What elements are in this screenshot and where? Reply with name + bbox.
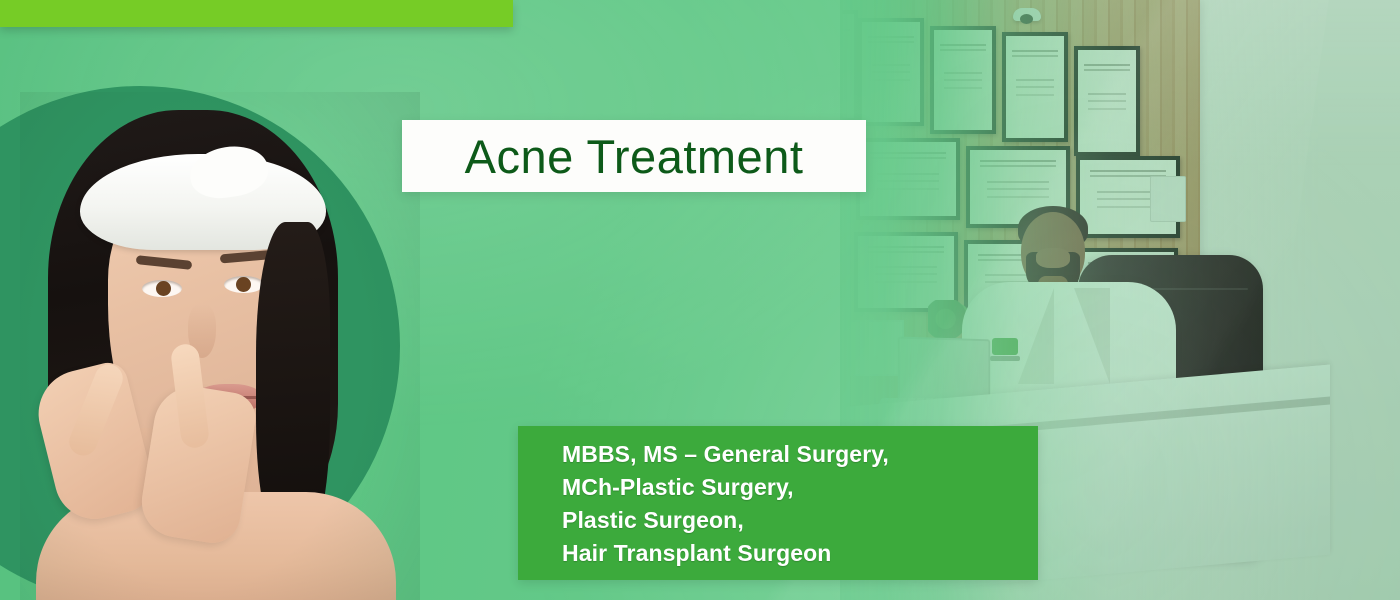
credential-line: MCh-Plastic Surgery, (562, 471, 1038, 504)
top-accent-bar (0, 0, 513, 27)
credential-line: MBBS, MS – General Surgery, (562, 438, 1038, 471)
certificate-frame (1074, 46, 1140, 156)
clinic-logo-text (990, 356, 1020, 361)
credential-line: Hair Transplant Surgeon (562, 537, 1038, 570)
page-title: Acne Treatment (465, 133, 804, 180)
certificate-frame (930, 26, 996, 134)
cctv-lens-icon (1020, 14, 1033, 24)
credential-line: Plastic Surgeon, (562, 504, 1038, 537)
certificate-frame (1002, 32, 1068, 142)
model-pupil-left (156, 281, 171, 296)
certificate-frame (858, 18, 924, 126)
certificate-frame (856, 138, 960, 220)
headline-plate: Acne Treatment (402, 120, 866, 192)
certificate-frame (840, 10, 858, 122)
wall-switch-plate (1150, 176, 1186, 222)
desk-photo-frame (848, 320, 904, 376)
acne-treatment-banner: Acne Treatment MBBS, MS – General Surger… (0, 0, 1400, 600)
clinic-logo-icon (992, 338, 1018, 355)
coat-lapel-right (1074, 288, 1110, 384)
credentials-panel: MBBS, MS – General Surgery, MCh-Plastic … (518, 426, 1038, 580)
acne-model-photo (20, 92, 420, 600)
coat-lapel-left (1018, 288, 1054, 384)
credentials-list: MBBS, MS – General Surgery, MCh-Plastic … (518, 426, 1038, 570)
doctor-face (1036, 248, 1070, 268)
model-pupil-right (236, 277, 251, 292)
